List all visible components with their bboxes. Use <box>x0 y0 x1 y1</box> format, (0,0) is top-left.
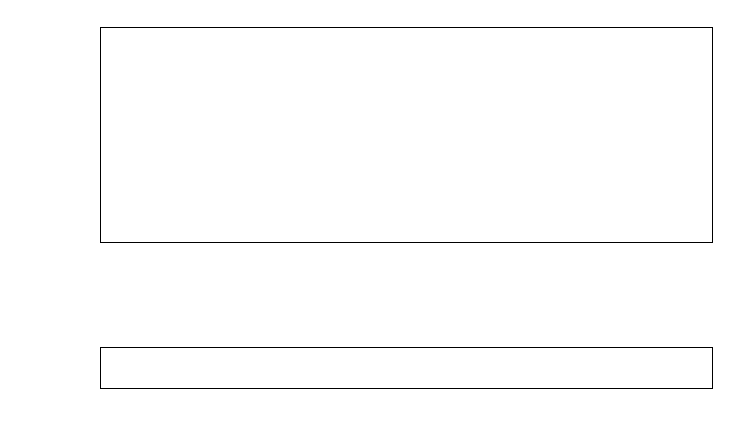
y-axis-label <box>9 22 49 262</box>
colorbar-gradient[interactable] <box>100 347 713 389</box>
colorbar[interactable] <box>100 347 713 389</box>
stacked-area-chart <box>101 28 713 243</box>
figure-canvas <box>0 0 730 425</box>
plot-area <box>100 27 713 243</box>
